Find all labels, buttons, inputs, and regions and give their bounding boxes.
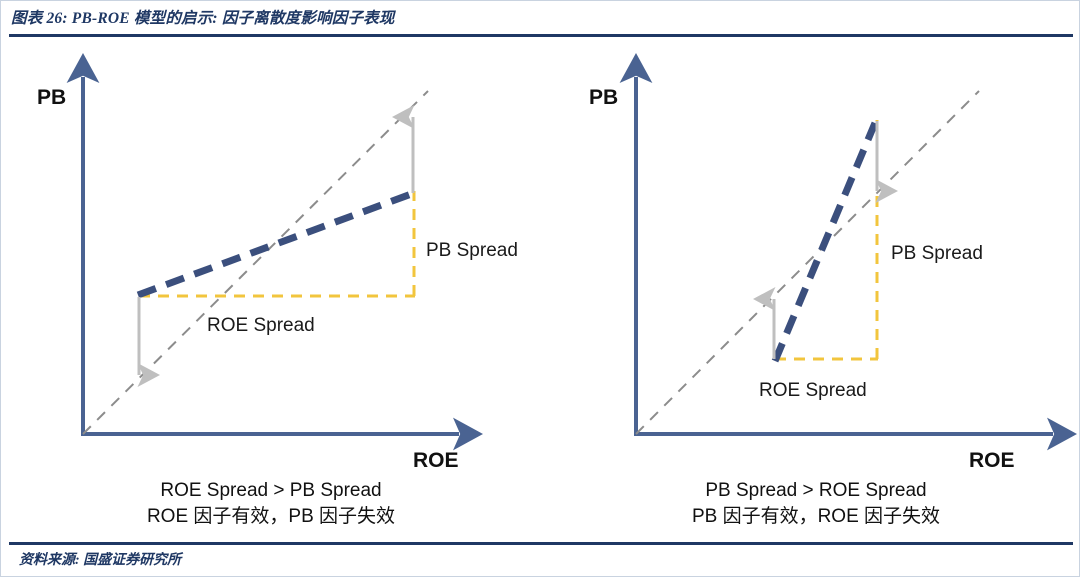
pb-spread-label-left: PB Spread [426, 240, 518, 261]
y-axis-label-left: PB [37, 86, 66, 109]
figure-card: 图表 26: PB-ROE 模型的启示: 因子离散度影响因子表现 [0, 0, 1080, 577]
pb-spread-label-right: PB Spread [891, 243, 983, 264]
page-title: 图表 26: PB-ROE 模型的启示: 因子离散度影响因子表现 [11, 7, 1071, 31]
caption-line2-right: PB 因子有效，ROE 因子失效 [692, 505, 940, 527]
y-axis-label-right: PB [589, 86, 618, 109]
figure-header: 图表 26: PB-ROE 模型的启示: 因子离散度影响因子表现 [11, 7, 1071, 37]
caption-line1-left: ROE Spread > PB Spread [160, 480, 381, 501]
source-note: 资料来源: 国盛证券研究所 [19, 549, 181, 569]
roe-spread-label-right: ROE Spread [759, 380, 867, 401]
caption-line1-right: PB Spread > ROE Spread [705, 480, 926, 501]
x-axis-label-right: ROE [969, 449, 1015, 472]
x-axis-label-left: ROE [413, 449, 459, 472]
reference-line-left [83, 91, 428, 434]
chart-left-panel: PB ROE PB Spread ROE Spread ROE Spread >… [1, 41, 541, 541]
roe-spread-label-left: ROE Spread [207, 315, 315, 336]
caption-line2-left: ROE 因子有效，PB 因子失效 [147, 505, 395, 527]
trend-line-left [138, 193, 414, 295]
footer-divider [9, 542, 1073, 545]
chart-right-panel: PB ROE PB Spread ROE Spread PB Spread > … [541, 41, 1080, 541]
header-divider [9, 34, 1073, 37]
trend-line-right [775, 123, 875, 361]
